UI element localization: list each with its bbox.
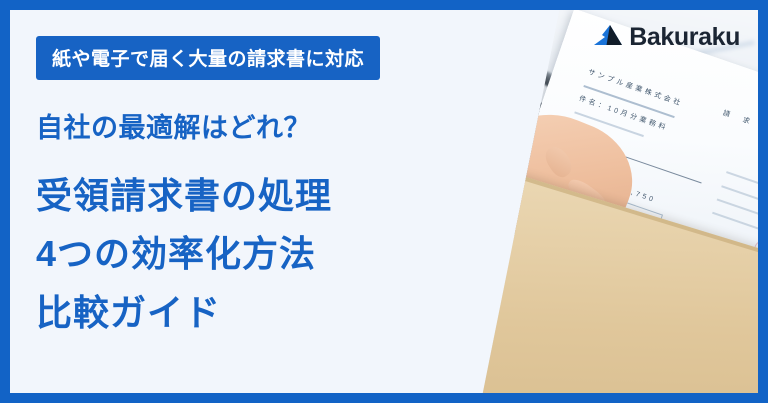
- marketing-banner: サンプル産業株式会社 請 求 書 件名：10月分業務料 ご請求金額 ¥99,75…: [0, 0, 768, 403]
- banner-content: 紙や電子で届く大量の請求書に対応 自社の最適解はどれ？ 受領請求書の処理 4つの…: [36, 10, 466, 393]
- mountain-triangle-icon: [593, 24, 623, 51]
- brand-logo-text: Bakuraku: [629, 25, 740, 50]
- status-badge: 紙や電子で届く大量の請求書に対応: [36, 36, 380, 80]
- photo-scene: サンプル産業株式会社 請 求 書 件名：10月分業務料 ご請求金額 ¥99,75…: [438, 10, 758, 393]
- brand-logo: Bakuraku: [593, 24, 740, 51]
- headline-line-2: 4つの効率化方法: [36, 225, 466, 283]
- headline-line-1: 受領請求書の処理: [36, 167, 466, 225]
- banner-subheading: 自社の最適解はどれ？: [36, 106, 466, 145]
- hero-photo: サンプル産業株式会社 請 求 書 件名：10月分業務料 ご請求金額 ¥99,75…: [438, 10, 758, 393]
- banner-headline: 受領請求書の処理 4つの効率化方法 比較ガイド: [36, 167, 466, 342]
- inner-panel: サンプル産業株式会社 請 求 書 件名：10月分業務料 ご請求金額 ¥99,75…: [10, 10, 758, 393]
- thumb: [541, 143, 576, 181]
- headline-line-3: 比較ガイド: [36, 284, 466, 342]
